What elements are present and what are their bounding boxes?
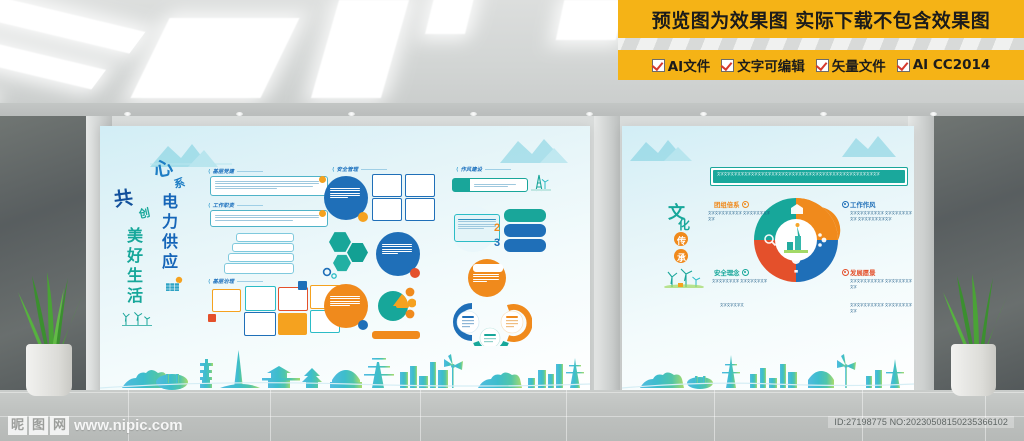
circle-badge-b — [410, 268, 420, 278]
checkbox-icon — [652, 59, 665, 72]
chevron-icon: ⟨ — [208, 279, 211, 285]
solar-panel-icon — [164, 276, 184, 294]
headline-char: 美 — [127, 228, 143, 244]
ceiling-edge-strip — [0, 103, 1024, 117]
headline-char: 共 — [113, 189, 134, 210]
circle-title-pill — [473, 264, 503, 272]
headline-char: 应 — [162, 254, 178, 270]
photo-card — [405, 174, 435, 197]
headline-char: 电 — [162, 194, 178, 210]
circle-badge-c — [358, 320, 368, 330]
watermark-logo-char: 图 — [29, 416, 48, 435]
card-badge — [298, 281, 307, 290]
ceiling-light-panel — [311, 0, 409, 98]
ceiling-light-panel — [0, 0, 145, 54]
photo-card — [372, 174, 402, 197]
city-skyline-right — [622, 344, 914, 390]
quadrant-body-2: 文字文字文字文字 文字文字文字文字 — [712, 279, 774, 285]
step-pill-1 — [504, 209, 546, 222]
section-title-2: ⟨工作职责 — [208, 202, 263, 209]
quadrant-bullet-3 — [842, 269, 849, 276]
photo-card — [245, 286, 276, 311]
feature-label: AI文件 — [668, 55, 710, 75]
headline-char: 系 — [173, 177, 186, 190]
headline-char: 创 — [138, 207, 151, 220]
photo-card — [244, 312, 276, 336]
vertical-title-char: 化 — [678, 216, 690, 233]
info-bubble-2 — [210, 210, 328, 227]
promo-banner-features: AI文件 文字可编辑 矢量文件 AI CC2014 — [618, 50, 1024, 80]
mountain-decor — [496, 134, 576, 164]
watermark-logo-char: 网 — [50, 416, 69, 435]
bubble-badge-1 — [319, 176, 326, 183]
circle-badge-a — [358, 212, 368, 222]
screenshot-root: 心 系 共 创 电 力 供 应 美 好 生 活 — [0, 0, 1024, 441]
chevron-icon: ⟨ — [208, 203, 211, 209]
quadrant-body-0: 文字文字文字文字文字 文字文字文字文字文字 — [708, 211, 770, 222]
cycle-diagram — [448, 298, 532, 346]
banner-text: 文字文字文字文字文字文字文字文字文字文字文字文字文字文字文字文字文字文字文字文字… — [717, 172, 904, 177]
asset-id-label: ID:27198775 NO:20230508150235366102 — [828, 416, 1014, 428]
watermark-logo: 昵 图 网 — [8, 416, 69, 435]
plant-left — [14, 270, 86, 395]
tower-icon — [530, 172, 552, 192]
windmill-scene-icon — [662, 266, 706, 288]
panel-headline: 心 系 共 创 电 力 供 应 美 好 生 活 — [110, 156, 208, 346]
wall-column — [594, 116, 620, 396]
orange-circle-2 — [468, 259, 506, 297]
watermark-logo-char: 昵 — [8, 416, 27, 435]
bubble-badge-2 — [319, 210, 326, 217]
info-bubble-3 — [452, 178, 528, 192]
checkbox-icon — [721, 59, 734, 72]
pinwheel-diagram — [750, 194, 842, 286]
feature-item-ai-file: AI文件 — [652, 55, 710, 75]
mini-bar — [372, 331, 420, 339]
promo-banner-gap — [618, 38, 1024, 50]
headline-char: 生 — [127, 268, 143, 284]
headline-char: 活 — [127, 288, 143, 304]
quadrant-extra-left: 文字文字文字文 — [720, 303, 782, 309]
plant-pot — [26, 344, 72, 396]
quadrant-body-3: 文字文字文字文字文字 文字文字文字文字文字 — [850, 279, 912, 290]
card-badge — [208, 314, 216, 322]
city-skyline-left — [100, 344, 590, 390]
quadrant-label-1: 工作作风 — [850, 200, 876, 209]
section-title-3: ⟨基层治理 — [208, 278, 263, 285]
ceiling-light-panel — [425, 0, 475, 34]
mini-row — [232, 243, 294, 252]
quadrant-label-0: 团组倍系 — [714, 200, 740, 209]
step-number: 3 — [494, 237, 500, 249]
mini-row — [236, 233, 294, 242]
chevron-icon: ⟨ — [456, 167, 459, 173]
photo-card — [405, 198, 435, 221]
hexagon-decor — [329, 231, 351, 253]
gear-icon — [322, 266, 340, 280]
mini-row — [224, 263, 294, 274]
plant-pot — [951, 344, 996, 396]
headline-char: 心 — [152, 158, 174, 180]
chevron-icon: ⟨ — [332, 167, 335, 173]
ceiling-light-panel — [130, 18, 299, 98]
checkbox-icon — [897, 59, 910, 72]
headline-char: 好 — [127, 248, 143, 264]
promo-banner-headline: 预览图为效果图 实际下载不包含效果图 — [618, 0, 1024, 38]
section-title-5: ⟨作风建设 — [456, 166, 511, 173]
photo-card — [278, 287, 308, 311]
plant-right — [940, 272, 1010, 396]
vertical-title-char: 传 — [677, 234, 686, 247]
chevron-icon: ⟨ — [208, 169, 211, 175]
checkbox-icon — [816, 59, 829, 72]
quadrant-extra-right: 文字文字文字文字文字 文字文字文字文字文字 — [850, 303, 912, 314]
section-title-4: ⟨安全管理 — [332, 166, 387, 173]
photo-card — [212, 289, 241, 312]
section-title-1: ⟨基层党建 — [208, 168, 263, 175]
step-pill-3 — [504, 239, 546, 252]
feature-item-editable-text: 文字可编辑 — [721, 55, 805, 75]
vertical-title: 文 化 传 承 — [662, 198, 706, 286]
photo-card — [278, 313, 307, 335]
step-number: 2 — [494, 222, 500, 234]
feature-label: AI CC2014 — [913, 57, 991, 73]
hexagon-decor — [347, 242, 368, 263]
promo-headline-text: 预览图为效果图 实际下载不包含效果图 — [652, 6, 991, 33]
photo-card — [372, 198, 402, 221]
watermark-url: www.nipic.com — [74, 417, 183, 434]
windmill-icon — [122, 310, 152, 326]
headline-char: 供 — [162, 234, 178, 250]
quadrant-label-2: 安全理念 — [714, 268, 740, 277]
pie-chart-decor — [376, 286, 416, 328]
mini-row — [228, 253, 294, 262]
culture-wall-panel-right: 文字文字文字文字文字文字文字文字文字文字文字文字文字文字文字文字文字文字文字文字… — [622, 126, 914, 396]
right-panel-banner: 文字文字文字文字文字文字文字文字文字文字文字文字文字文字文字文字文字文字文字文字… — [710, 167, 908, 186]
quadrant-bullet-1 — [842, 201, 849, 208]
feature-item-ai-version: AI CC2014 — [897, 57, 991, 73]
quadrant-bullet-2 — [742, 269, 749, 276]
quadrant-bullet-0 — [742, 201, 749, 208]
headline-char: 力 — [162, 214, 178, 230]
mountain-decor — [628, 136, 698, 162]
ceiling-light-panel — [556, 0, 625, 40]
feature-item-vector-file: 矢量文件 — [816, 55, 886, 75]
step-pill-2 — [504, 224, 546, 237]
quadrant-body-1: 文字文字文字文字文字 文字文字文字文字文字 文字文字文字文字文字 — [850, 211, 912, 222]
vertical-title-char: 承 — [677, 251, 686, 264]
feature-label: 矢量文件 — [832, 55, 886, 75]
mountain-decor — [840, 132, 906, 158]
quadrant-label-3: 发展愿景 — [850, 268, 876, 277]
culture-wall-panel-left: 心 系 共 创 电 力 供 应 美 好 生 活 — [100, 126, 590, 396]
feature-label: 文字可编辑 — [737, 55, 805, 75]
watermark: 昵 图 网 www.nipic.com — [8, 416, 183, 435]
info-bubble-1 — [210, 176, 328, 196]
